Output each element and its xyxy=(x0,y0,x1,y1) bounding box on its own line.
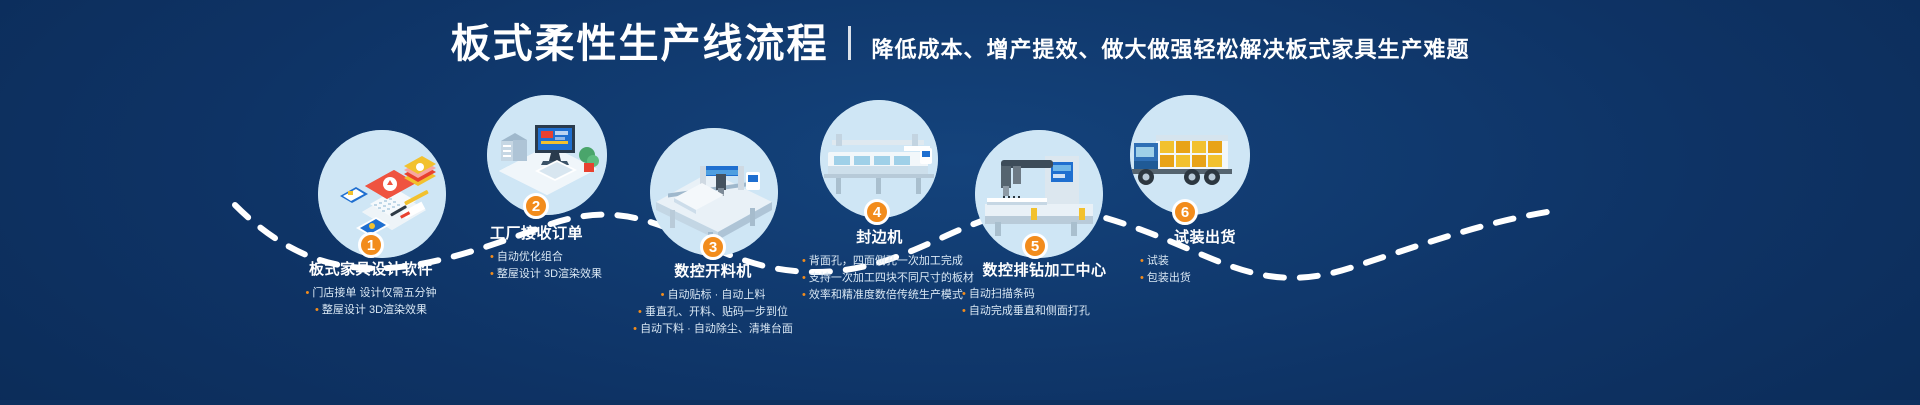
step-marker-1[interactable]: 1 xyxy=(358,232,384,258)
step-marker-3[interactable]: 3 xyxy=(700,234,726,260)
page-subtitle: 降低成本、增产提效、做大做强轻松解决板式家具生产难题 xyxy=(871,39,1469,64)
step-bullets-6: 试装 包装出货 xyxy=(1140,253,1270,287)
step-marker-6[interactable]: 6 xyxy=(1172,199,1198,225)
step-title-5: 数控排钻加工中心 xyxy=(962,259,1127,280)
bullet: 垂直孔、开料、贴码一步到位 xyxy=(613,304,813,321)
step-title-2: 工厂接收订单 xyxy=(490,222,700,243)
bullet: 自动扫描条码 xyxy=(962,286,1127,303)
step-marker-4[interactable]: 4 xyxy=(864,199,890,225)
step-caption-1: 板式家具设计软件 门店接单 设计仅需五分钟 整屋设计 3D渲染效果 xyxy=(271,258,471,319)
bullet: 背面孔，四面侧孔一次加工完成 xyxy=(802,253,957,270)
truck-shipping-icon xyxy=(1130,95,1250,215)
bullet: 效率和精准度数倍传统生产模式 xyxy=(802,287,957,304)
step-bullets-1: 门店接单 设计仅需五分钟 整屋设计 3D渲染效果 xyxy=(271,285,471,319)
step-caption-4: 封边机 背面孔，四面侧孔一次加工完成 支持一次加工四块不同尺寸的板材 效率和精准… xyxy=(802,226,957,304)
step-caption-5: 数控排钻加工中心 自动扫描条码 自动完成垂直和侧面打孔 xyxy=(962,259,1127,320)
bullet: 自动贴标 · 自动上料 xyxy=(613,287,813,304)
bullet: 门店接单 设计仅需五分钟 xyxy=(271,285,471,302)
page-header: 板式柔性生产线流程 降低成本、增产提效、做大做强轻松解决板式家具生产难题 xyxy=(0,24,1920,64)
bullet: 支持一次加工四块不同尺寸的板材 xyxy=(802,270,957,287)
step-title-6: 试装出货 xyxy=(1140,226,1270,247)
step-marker-5[interactable]: 5 xyxy=(1022,233,1048,259)
step-marker-2[interactable]: 2 xyxy=(523,193,549,219)
step-title-3: 数控开料机 xyxy=(613,260,813,281)
bullet: 试装 xyxy=(1140,253,1270,270)
workstation-icon xyxy=(487,95,607,215)
step-caption-6: 试装出货 试装 包装出货 xyxy=(1140,226,1270,287)
step-title-1: 板式家具设计软件 xyxy=(271,258,471,279)
step-bullets-5: 自动扫描条码 自动完成垂直和侧面打孔 xyxy=(962,286,1127,320)
step-caption-3: 数控开料机 自动贴标 · 自动上料 垂直孔、开料、贴码一步到位 自动下料 · 自… xyxy=(613,260,813,338)
step-title-4: 封边机 xyxy=(802,226,957,247)
bullet: 整屋设计 3D渲染效果 xyxy=(271,302,471,319)
bullet: 包装出货 xyxy=(1140,270,1270,287)
title-divider xyxy=(848,26,851,60)
step-bullets-3: 自动贴标 · 自动上料 垂直孔、开料、贴码一步到位 自动下料 · 自动除尘、清堆… xyxy=(613,287,813,338)
bullet: 自动完成垂直和侧面打孔 xyxy=(962,303,1127,320)
step-bullets-4: 背面孔，四面侧孔一次加工完成 支持一次加工四块不同尺寸的板材 效率和精准度数倍传… xyxy=(802,253,957,304)
bullet: 自动下料 · 自动除尘、清堆台面 xyxy=(613,321,813,338)
page-title: 板式柔性生产线流程 xyxy=(450,24,828,64)
